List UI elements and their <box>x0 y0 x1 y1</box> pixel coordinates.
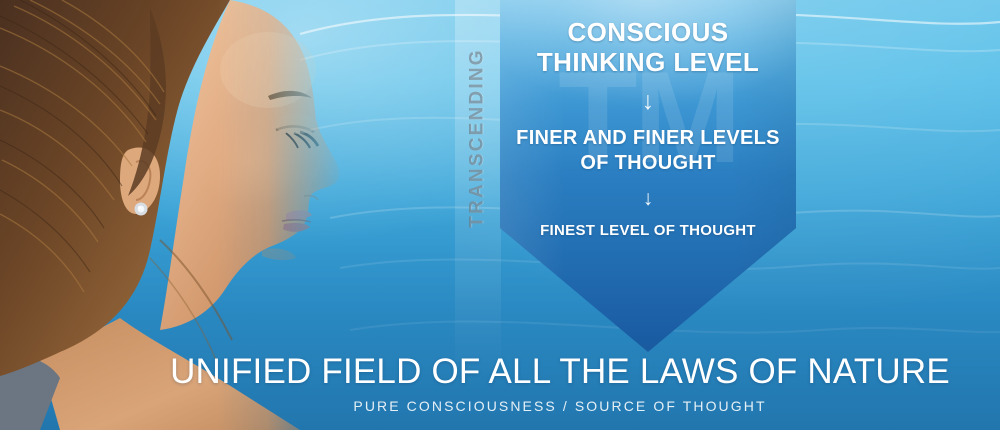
transcending-label: TRANSCENDING <box>455 0 501 275</box>
level-finest-thought: FINEST LEVEL OF THOUGHT <box>540 221 756 241</box>
transcending-text: TRANSCENDING <box>467 48 489 227</box>
level-finer-levels: FINER AND FINER LEVELS OF THOUGHT <box>500 126 796 176</box>
unified-field-headline: UNIFIED FIELD OF ALL THE LAWS OF NATURE <box>0 354 1000 391</box>
down-arrow-icon-2: ↓ <box>643 188 654 209</box>
graphic-canvas: TRANSCENDING TM CONSCIOUS THINKING LEVEL… <box>0 0 1000 430</box>
footer-block: UNIFIED FIELD OF ALL THE LAWS OF NATURE … <box>0 354 1000 414</box>
unified-field-subline: PURE CONSCIOUSNESS / SOURCE OF THOUGHT <box>0 398 1000 414</box>
levels-stack: CONSCIOUS THINKING LEVEL ↓ FINER AND FIN… <box>500 0 796 352</box>
down-arrow-icon-1: ↓ <box>642 89 655 114</box>
level-conscious-thinking: CONSCIOUS THINKING LEVEL <box>500 17 796 77</box>
